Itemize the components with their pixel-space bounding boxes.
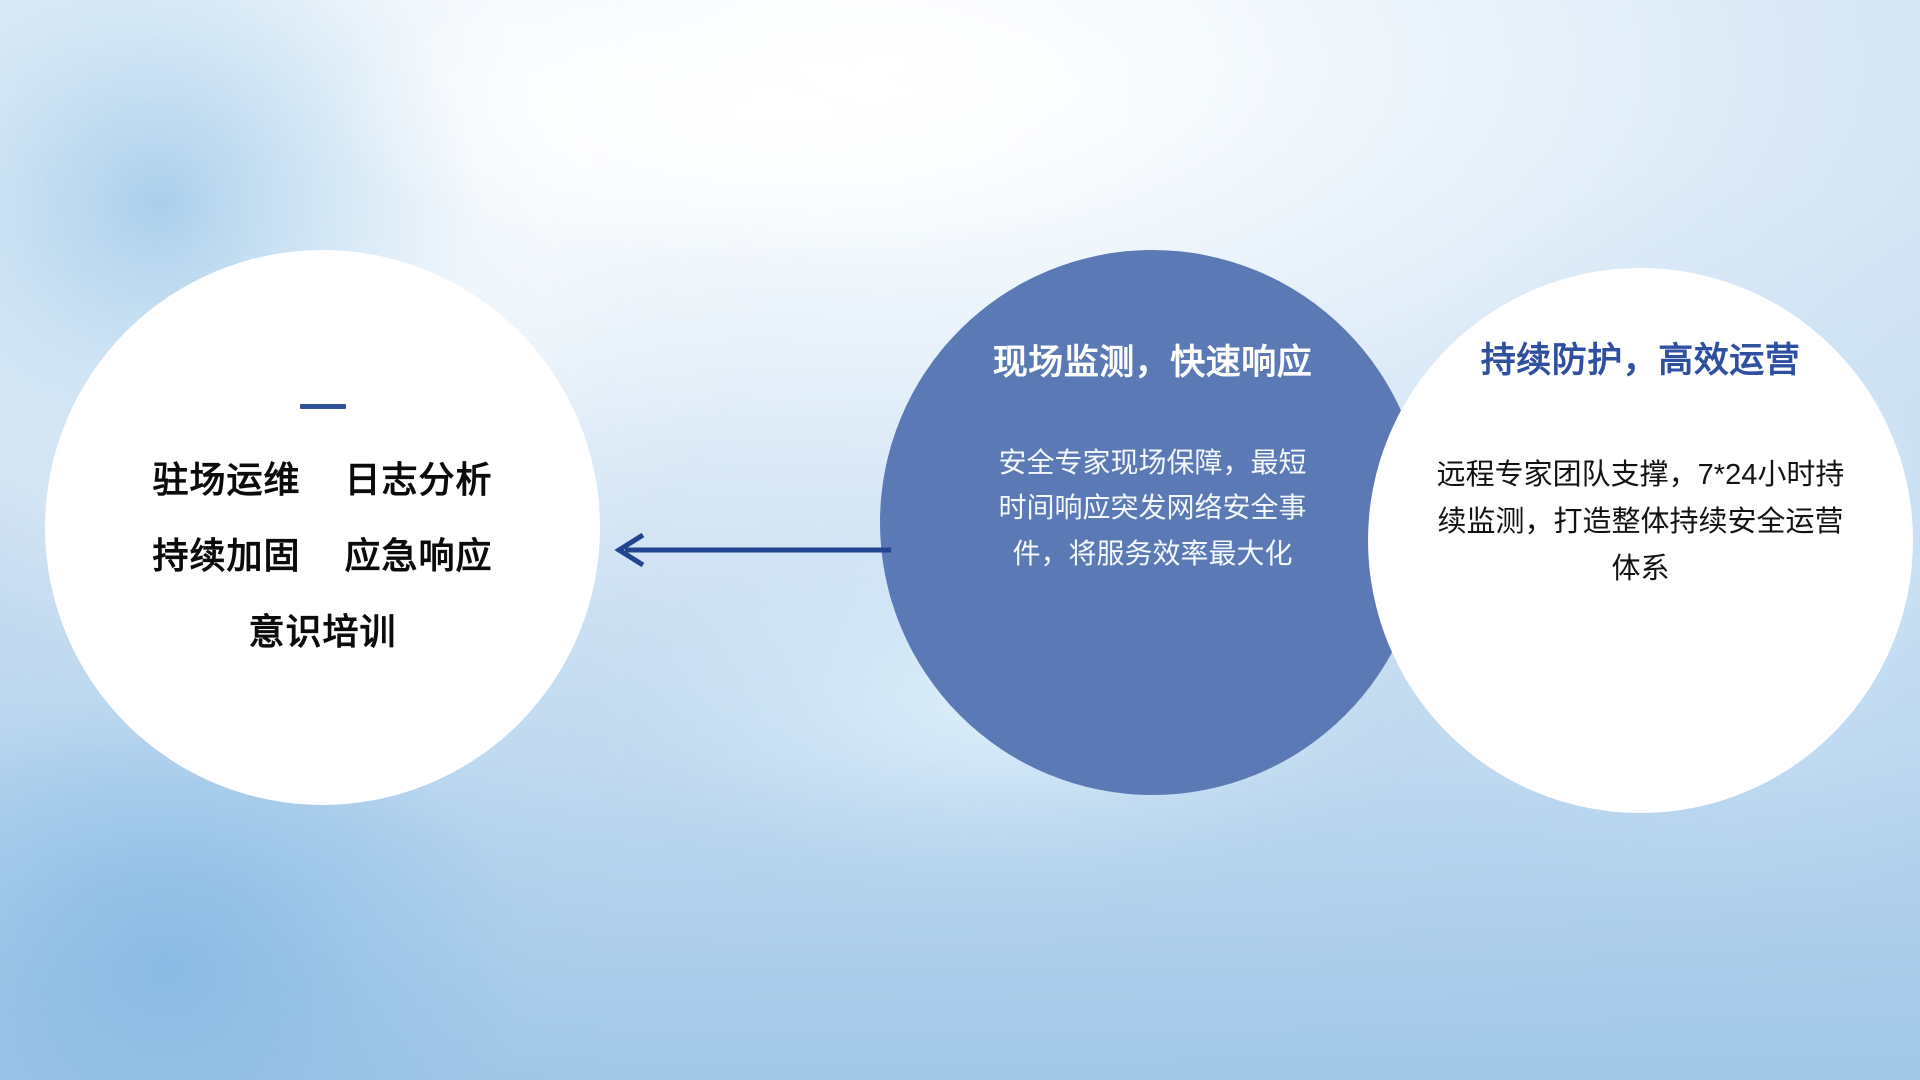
- onsite-monitoring-title: 现场监测，快速响应: [993, 342, 1313, 384]
- capability-line-3: 意识培训: [248, 613, 396, 651]
- capability-line-1: 驻场运维 日志分析: [152, 461, 492, 499]
- onsite-monitoring-circle: 现场监测，快速响应 安全专家现场保障，最短时间响应突发网络安全事件，将服务效率最…: [880, 250, 1425, 795]
- capability-circle-left: 驻场运维 日志分析 持续加固 应急响应 意识培训: [45, 250, 600, 805]
- continuous-protection-title: 持续防护，高效运营: [1481, 340, 1801, 382]
- background-top-white-wash: [230, 0, 1305, 259]
- continuous-protection-circle: 持续防护，高效运营 远程专家团队支撑，7*24小时持续监测，打造整体持续安全运营…: [1368, 268, 1913, 813]
- horizontal-dash-icon: [300, 404, 346, 409]
- continuous-protection-body: 远程专家团队支撑，7*24小时持续监测，打造整体持续安全运营体系: [1431, 452, 1851, 593]
- slide-canvas: 驻场运维 日志分析 持续加固 应急响应 意识培训 现场监测，快速响应 安全专家现…: [0, 0, 1920, 1080]
- onsite-monitoring-body: 安全专家现场保障，最短时间响应突发网络安全事件，将服务效率最大化: [988, 440, 1318, 576]
- capability-line-2: 持续加固 应急响应: [152, 537, 492, 575]
- left-arrow-icon: [605, 528, 895, 572]
